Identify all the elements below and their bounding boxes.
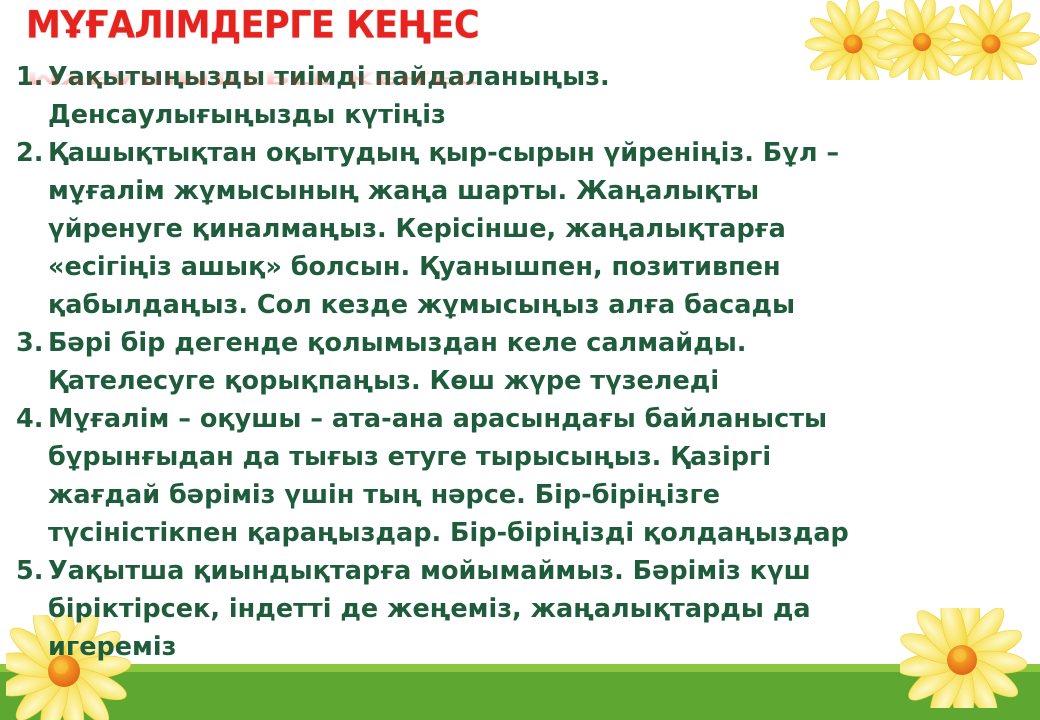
- bottom-green-band: [0, 664, 1040, 720]
- page-title: МҰҒАЛІМДЕРГЕ КЕҢЕС: [26, 4, 479, 47]
- list-item-marker: 2.: [0, 134, 48, 172]
- list-item-text: Уақытыңызды тиімді пайдаланыңыз. Денсаул…: [48, 58, 1030, 134]
- list-item-marker: 5.: [0, 552, 48, 590]
- list-item: 4. Мұғалім – оқушы – ата-ана арасындағы …: [0, 400, 1030, 552]
- list-item-text: Бәрі бір дегенде қолымыздан келе салмайд…: [48, 324, 1030, 400]
- band-dark-stripe: [0, 672, 1040, 720]
- list-item: 5. Уақытша қиындықтарға мойымаймыз. Бәрі…: [0, 552, 1030, 666]
- slide-canvas: МҰҒАЛІМДЕРГЕ КЕҢЕС МҰҒАЛІМДЕРГЕ КЕҢЕС 1.…: [0, 0, 1040, 720]
- list-item: 1. Уақытыңызды тиімді пайдаланыңыз. Денс…: [0, 58, 1030, 134]
- list-item-text: Мұғалім – оқушы – ата-ана арасындағы бай…: [48, 400, 1030, 552]
- list-item-marker: 4.: [0, 400, 48, 438]
- list-item: 3. Бәрі бір дегенде қолымыздан келе салм…: [0, 324, 1030, 400]
- list-item-marker: 3.: [0, 324, 48, 362]
- list-item-text: Уақытша қиындықтарға мойымаймыз. Бәріміз…: [48, 552, 1030, 666]
- list-item-text: Қашықтықтан оқытудың қыр-сырын үйреніңіз…: [48, 134, 1030, 324]
- list-item: 2. Қашықтықтан оқытудың қыр-сырын үйрені…: [0, 134, 1030, 324]
- title-block: МҰҒАЛІМДЕРГЕ КЕҢЕС МҰҒАЛІМДЕРГЕ КЕҢЕС: [26, 4, 479, 62]
- list-item-marker: 1.: [0, 58, 48, 96]
- advice-list: 1. Уақытыңызды тиімді пайдаланыңыз. Денс…: [0, 58, 1030, 666]
